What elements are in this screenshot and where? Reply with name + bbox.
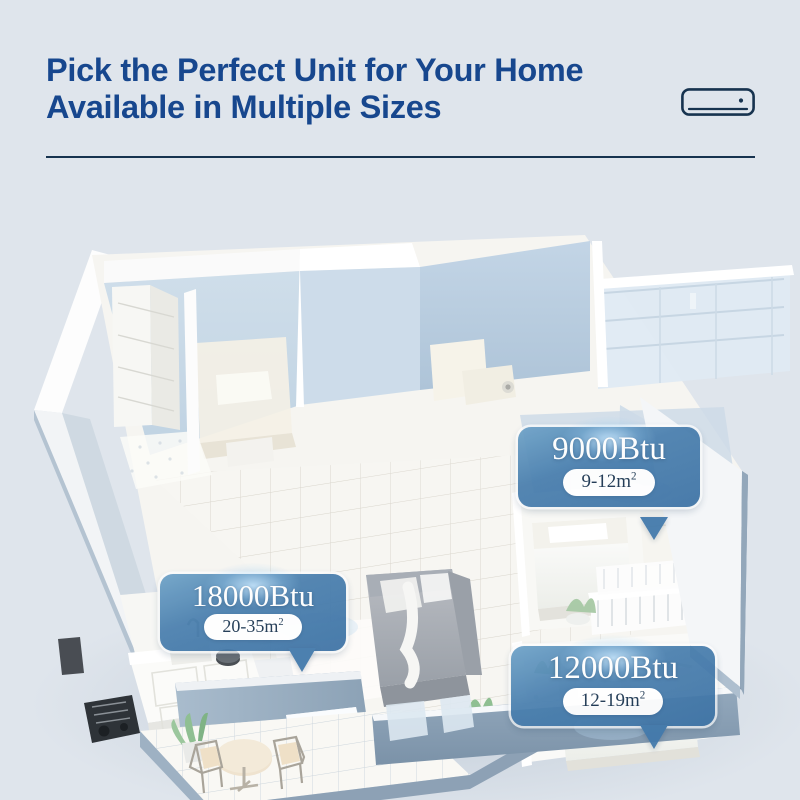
badge-18000btu[interactable]: 18000Btu 20-35m2 [160, 574, 346, 651]
badge-btu-label: 9000Btu [534, 433, 684, 467]
badge-area-label: 20-35m2 [222, 616, 283, 636]
badge-pointer-tail [640, 517, 668, 540]
floorplan-scene: 9000Btu 9-12m2 18000Btu 20-35m2 12000Btu… [0, 175, 800, 800]
badge-area-label: 9-12m2 [581, 471, 636, 492]
badge-btu-label: 12000Btu [527, 652, 699, 686]
badge-area-pill: 12-19m2 [563, 688, 664, 715]
page-title: Pick the Perfect Unit for Your Home Avai… [46, 52, 686, 126]
badge-btu-label: 18000Btu [176, 580, 330, 612]
badge-pointer-tail [640, 725, 668, 749]
header-divider [46, 156, 755, 158]
header: Pick the Perfect Unit for Your Home Avai… [0, 0, 800, 175]
badge-area-label: 12-19m2 [581, 690, 646, 711]
badge-area-pill: 20-35m2 [204, 614, 301, 640]
badge-12000btu[interactable]: 12000Btu 12-19m2 [511, 646, 715, 726]
air-conditioner-icon [681, 88, 755, 116]
badge-9000btu[interactable]: 9000Btu 9-12m2 [518, 427, 700, 507]
badge-area-pill: 9-12m2 [563, 469, 654, 496]
badge-pointer-tail [288, 648, 316, 672]
